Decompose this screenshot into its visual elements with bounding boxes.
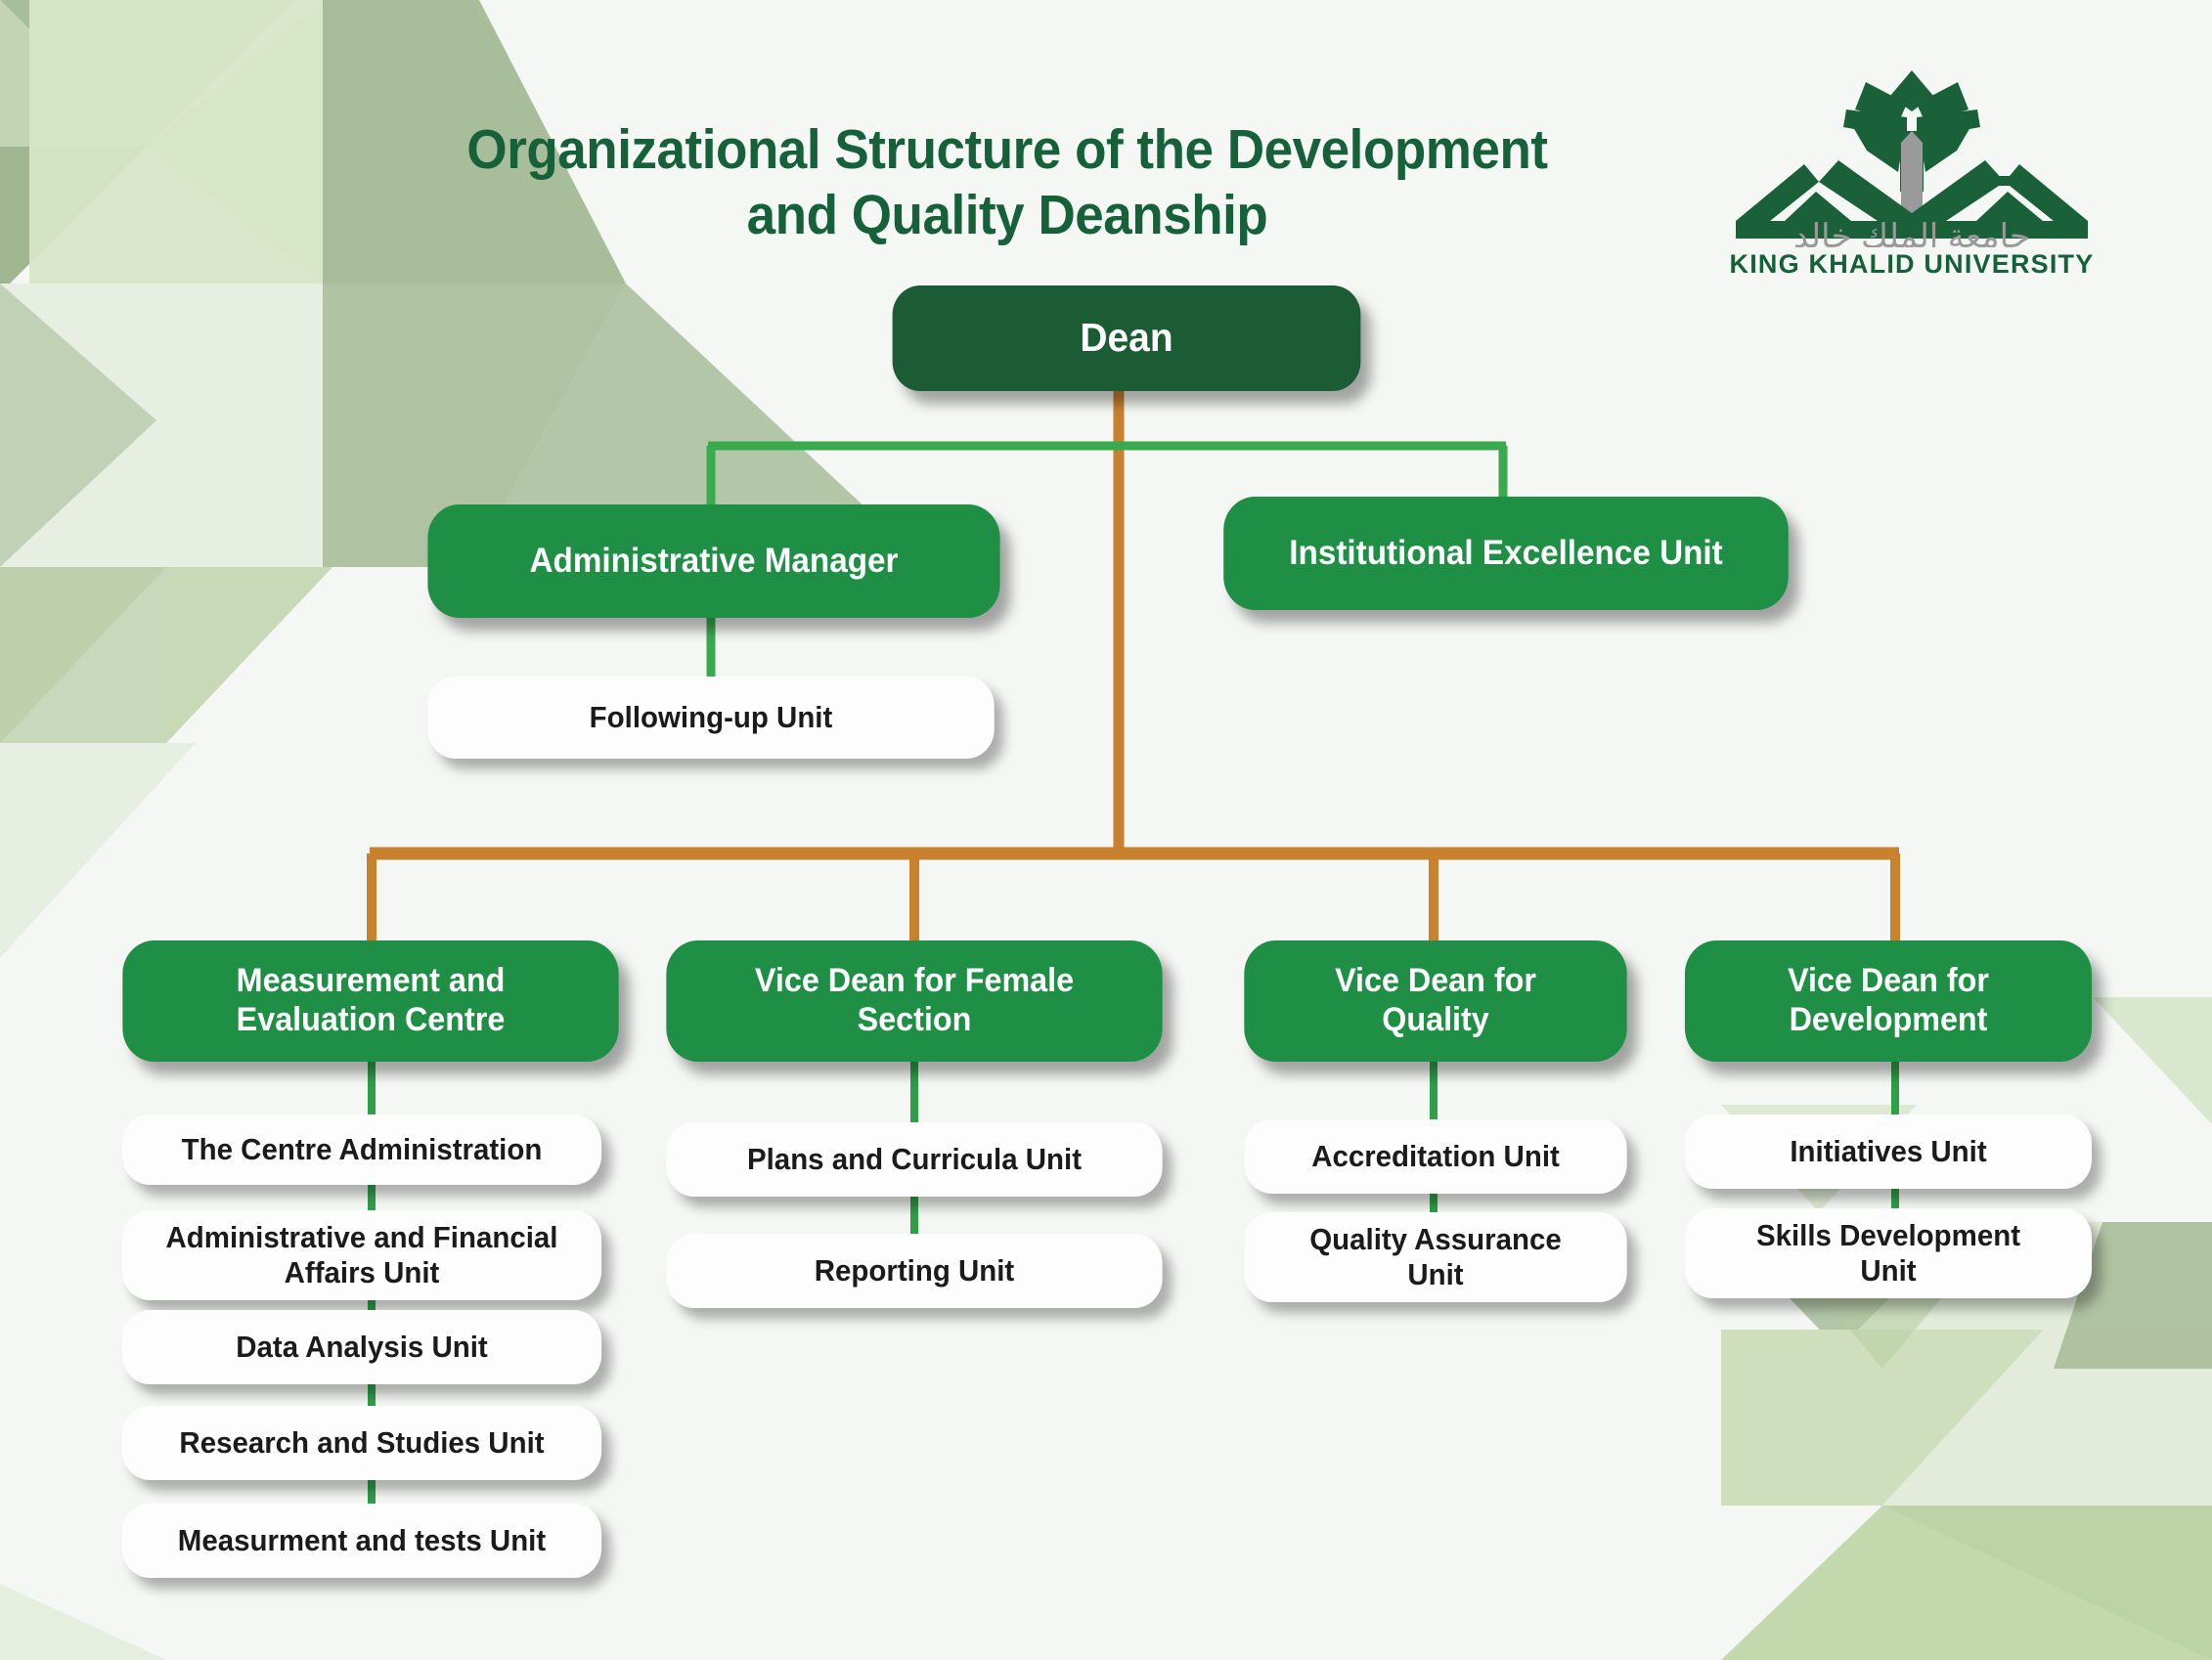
node-vice-dean-female-label-line1: Vice Dean for Female (755, 962, 1074, 999)
node-following-up-unit[interactable]: Following-up Unit (427, 677, 995, 759)
node-administrative-and-financial-affairs-unit[interactable]: Administrative and Financial Affairs Uni… (122, 1210, 601, 1300)
node-vice-dean-development-label-line2: Development (1790, 1001, 1988, 1038)
node-administrative-manager-label: Administrative Manager (443, 542, 986, 582)
node-admin-financial-label-line1: Administrative and Financial (166, 1220, 558, 1254)
node-the-centre-administration[interactable]: The Centre Administration (122, 1114, 601, 1185)
node-quality-assurance-label-line1: Quality Assurance (1309, 1222, 1562, 1256)
node-vice-dean-for-development[interactable]: Vice Dean for Development (1685, 940, 2092, 1062)
node-administrative-manager[interactable]: Administrative Manager (427, 504, 999, 618)
node-vice-dean-female-label-line2: Section (858, 1001, 972, 1038)
node-data-analysis-unit-label: Data Analysis Unit (137, 1330, 587, 1365)
deco-bottom-left (0, 1584, 166, 1660)
node-vice-dean-for-quality[interactable]: Vice Dean for Quality (1244, 940, 1626, 1062)
node-plans-and-curricula-unit[interactable]: Plans and Curricula Unit (666, 1122, 1162, 1197)
node-quality-assurance-label-line2: Unit (1407, 1257, 1463, 1291)
node-accreditation-unit-label: Accreditation Unit (1260, 1139, 1613, 1174)
node-admin-financial-label-line2: Affairs Unit (285, 1255, 440, 1289)
node-institutional-excellence-unit-label: Institutional Excellence Unit (1238, 534, 1773, 574)
node-skills-development-unit[interactable]: Skills Development Unit (1685, 1208, 2092, 1298)
node-initiatives-unit[interactable]: Initiatives Unit (1685, 1114, 2092, 1189)
node-vice-dean-development-label-line1: Vice Dean for (1788, 962, 1989, 999)
node-research-and-studies-unit-label: Research and Studies Unit (137, 1425, 587, 1461)
node-institutional-excellence-unit[interactable]: Institutional Excellence Unit (1223, 497, 1789, 610)
node-vice-dean-for-female-section[interactable]: Vice Dean for Female Section (666, 940, 1162, 1062)
node-measurement-centre-label-line2: Evaluation Centre (237, 1001, 506, 1038)
deco-left-wash (0, 743, 196, 958)
node-measurement-and-evaluation-centre[interactable]: Measurement and Evaluation Centre (122, 940, 618, 1062)
logo-arabic-text: جامعة الملك خالد (1793, 218, 2030, 247)
node-skills-development-label-line2: Unit (1860, 1253, 1916, 1288)
node-the-centre-administration-label: The Centre Administration (137, 1132, 587, 1167)
king-khalid-university-logo-icon: جامعة الملك خالد (1706, 66, 2117, 247)
node-research-and-studies-unit[interactable]: Research and Studies Unit (122, 1406, 601, 1480)
node-reporting-unit-label: Reporting Unit (682, 1253, 1148, 1289)
node-quality-assurance-unit[interactable]: Quality Assurance Unit (1244, 1212, 1626, 1302)
node-measurment-and-tests-unit[interactable]: Measurment and tests Unit (122, 1504, 601, 1578)
page-title-line1: Organizational Structure of the Developm… (371, 117, 1644, 183)
node-data-analysis-unit[interactable]: Data Analysis Unit (122, 1310, 601, 1384)
org-chart-poster: جامعة الملك خالد KING KHALID UNIVERSITY … (0, 0, 2212, 1660)
node-reporting-unit[interactable]: Reporting Unit (666, 1234, 1162, 1308)
page-title-line2: and Quality Deanship (371, 183, 1644, 248)
node-dean[interactable]: Dean (893, 285, 1361, 391)
node-measurement-centre-label-line1: Measurement and (237, 962, 506, 999)
deco-top-left (0, 0, 929, 743)
node-dean-label: Dean (907, 315, 1346, 362)
node-initiatives-unit-label: Initiatives Unit (1700, 1134, 2077, 1169)
logo-english-text: KING KHALID UNIVERSITY (1706, 249, 2117, 280)
node-following-up-unit-label: Following-up Unit (442, 700, 979, 735)
node-skills-development-label-line1: Skills Development (1756, 1218, 2020, 1252)
node-accreditation-unit[interactable]: Accreditation Unit (1244, 1119, 1626, 1194)
university-logo: جامعة الملك خالد KING KHALID UNIVERSITY (1706, 66, 2117, 301)
node-plans-and-curricula-unit-label: Plans and Curricula Unit (682, 1142, 1148, 1177)
node-vice-dean-quality-label-line1: Vice Dean for (1335, 962, 1536, 999)
node-vice-dean-quality-label-line2: Quality (1382, 1001, 1488, 1038)
node-measurment-and-tests-unit-label: Measurment and tests Unit (137, 1523, 587, 1558)
page-title: Organizational Structure of the Developm… (371, 117, 1644, 249)
